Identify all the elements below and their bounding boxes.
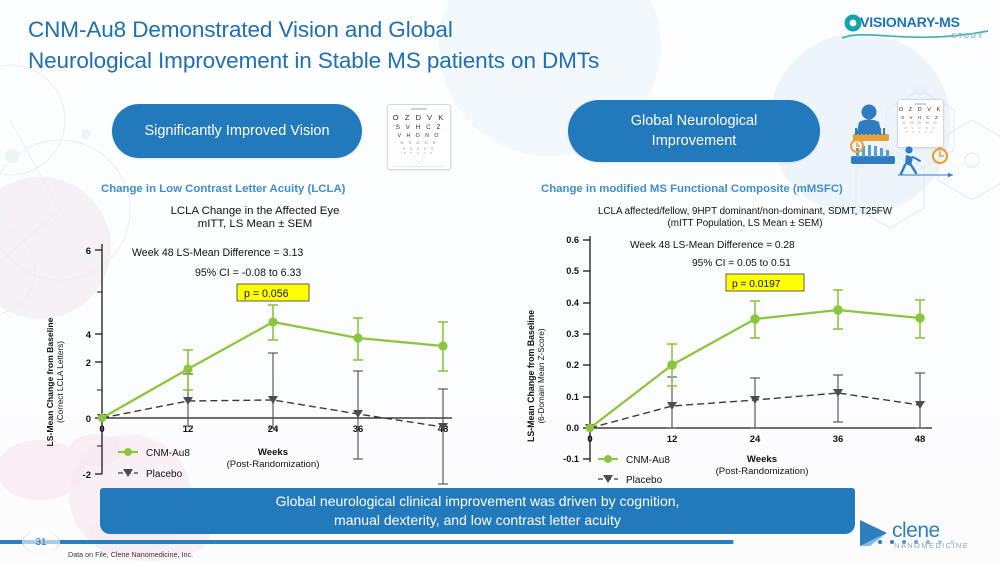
eye-chart-footer-lines bbox=[389, 155, 449, 169]
slide-canvas: CNM-Au8 Demonstrated Vision and Global N… bbox=[0, 0, 1000, 563]
chart-mmsfc-xtick-48: 48 bbox=[915, 434, 926, 445]
page-number: 31 bbox=[35, 537, 46, 548]
chart-lcla-xlabel-line2: (Post-Randomization) bbox=[227, 459, 320, 470]
timed-25-foot-walk-icon bbox=[896, 145, 956, 179]
chart-lcla-cnmau8-errorbars bbox=[183, 305, 448, 390]
eye-chart-small-header-bar bbox=[915, 103, 927, 105]
chart-lcla-title-line2: mITT, LS Mean ± SEM bbox=[198, 218, 313, 230]
chart-mmsfc-xtick-0: 0 bbox=[587, 434, 592, 445]
chart-mmsfc-ytick-0.4: 0.4 bbox=[566, 298, 580, 308]
eye-chart-row-1: O Z D V K bbox=[393, 113, 446, 122]
chart-mmsfc-pvalue: p = 0.0197 bbox=[732, 279, 781, 290]
chart-lcla-pvalue: p = 0.056 bbox=[244, 288, 289, 300]
legend-mmsfc-cnmau8-marker bbox=[604, 455, 612, 463]
chart-mmsfc-ytick-0.5: 0.5 bbox=[566, 266, 579, 276]
chart-lcla-svg: LCLA Change in the Affected Eye mITT, LS… bbox=[40, 196, 470, 486]
eye-chart-small-row-2: S V H C Z bbox=[901, 115, 940, 120]
chart-lcla-y-minor-ticks bbox=[97, 292, 102, 446]
clene-triangle-icon bbox=[856, 516, 890, 550]
chart-mmsfc-legend: CNM-Au8 Placebo bbox=[598, 455, 670, 486]
snellen-eye-chart-icon: O Z D V K S V H C Z V H O N O N V O O K … bbox=[387, 104, 451, 170]
eye-chart-row-3: V H O N O bbox=[398, 133, 441, 139]
slide-title: CNM-Au8 Demonstrated Vision and Global N… bbox=[28, 14, 668, 76]
chart-mmsfc-ytick-0.2: 0.2 bbox=[566, 360, 579, 370]
pill-right-label-line2: Improvement bbox=[631, 131, 758, 151]
chart-lcla-y-ticklabels: 6 4 2 0 -2 bbox=[83, 246, 92, 481]
chart-lcla-ylabel-line1: LS-Mean Change from Baseline bbox=[45, 317, 55, 446]
slide-title-line2: Neurological Improvement in Stable MS pa… bbox=[28, 45, 668, 76]
pill-left-label: Significantly Improved Vision bbox=[144, 121, 329, 141]
eye-chart-row-2: S V H C Z bbox=[396, 124, 443, 131]
visionary-ms-sub: STUDY bbox=[952, 31, 984, 40]
chart-lcla-ytick-0: 0 bbox=[86, 414, 91, 425]
nine-hole-peg-test-icon bbox=[847, 100, 901, 166]
chart-mmsfc-x-ticklabels: 0 12 24 36 48 bbox=[587, 434, 925, 445]
chart-lcla-xlabel-line1: Weeks bbox=[258, 447, 288, 458]
slide-title-line1: CNM-Au8 Demonstrated Vision and Global bbox=[28, 17, 453, 42]
eye-chart-small-row-5: H S K V O bbox=[906, 131, 935, 134]
footer-rule bbox=[0, 540, 872, 544]
section-heading-lcla: Change in Low Contrast Letter Acuity (LC… bbox=[101, 183, 345, 195]
snellen-eye-chart-icon-small: O Z D V K S V H C Z V H O N O N V O O K … bbox=[897, 99, 944, 148]
visionary-ms-wordmark: VISIONARY-MS bbox=[860, 15, 960, 31]
chart-mmsfc-xlabel-line1: Weeks bbox=[747, 454, 777, 465]
chart-lcla-legend: CNM-Au8 Placebo bbox=[118, 448, 190, 480]
chart-lcla-title-line1: LCLA Change in the Affected Eye bbox=[171, 205, 340, 217]
chart-mmsfc-cnmau8-errorbars bbox=[667, 290, 925, 386]
chart-mmsfc-title-line1: LCLA affected/fellow, 9HPT dominant/non-… bbox=[598, 206, 893, 217]
clene-nanomedicine-logo: clene NANOMEDICINE bbox=[856, 516, 986, 556]
chart-mmsfc-xtick-36: 36 bbox=[833, 434, 844, 445]
chart-mmsfc-ytick-0.6: 0.6 bbox=[566, 235, 579, 245]
eye-chart-row-4: N V O O K bbox=[401, 140, 438, 145]
chart-lcla-confidence-interval: 95% CI = -0.08 to 6.33 bbox=[195, 267, 301, 279]
eye-chart-small-row-1: O Z D V K bbox=[899, 107, 943, 113]
bottom-banner-line1: Global neurological clinical improvement… bbox=[276, 492, 680, 511]
chart-lcla-ylabel-line2: (Correct LCLA Letters) bbox=[56, 341, 65, 423]
chart-mmsfc-confidence-interval: 95% CI = 0.05 to 0.51 bbox=[692, 258, 791, 269]
chart-lcla-ytick-4: 4 bbox=[86, 330, 92, 341]
footer-source-note: Data on File, Clene Nanomedicine, Inc. bbox=[68, 550, 193, 559]
chart-mmsfc-ylabel-line1: LS-Mean Change from Baseline bbox=[526, 310, 536, 442]
chart-lcla-ytick-2: 2 bbox=[86, 358, 91, 369]
chart-mmsfc-xtick-24: 24 bbox=[750, 434, 761, 445]
pill-global-neurological-improvement[interactable]: Global Neurological Improvement bbox=[568, 100, 820, 162]
chart-lcla-ytick-m2: -2 bbox=[83, 470, 91, 481]
eye-chart-row-5: H S K V O bbox=[403, 147, 436, 151]
visionary-ms-logo: VISIONARY-MS STUDY bbox=[842, 8, 988, 48]
chart-lcla-ytick-6: 6 bbox=[86, 246, 91, 257]
bottom-conclusion-banner: Global neurological clinical improvement… bbox=[100, 488, 855, 534]
chart-mmsfc-y-ticklabels: 0.6 0.5 0.4 0.3 0.2 0.1 0.0 -0.1 bbox=[563, 235, 580, 464]
legend-cnmau8-label: CNM-Au8 bbox=[146, 448, 190, 459]
eye-chart-header-bar bbox=[411, 108, 427, 110]
legend-mmsfc-placebo-marker bbox=[603, 475, 613, 483]
chart-mmsfc-lsmean-difference: Week 48 LS-Mean Difference = 0.28 bbox=[630, 240, 795, 251]
section-heading-mmsfc: Change in modified MS Functional Composi… bbox=[541, 183, 843, 195]
bottom-banner-line2: manual dexterity, and low contrast lette… bbox=[334, 511, 621, 530]
eye-chart-small-row-4: N V O O K bbox=[904, 126, 936, 130]
chart-lcla: LCLA Change in the Affected Eye mITT, LS… bbox=[40, 196, 470, 486]
chart-mmsfc-svg: LCLA affected/fellow, 9HPT dominant/non-… bbox=[520, 196, 960, 486]
chart-mmsfc-title-line2: (mITT Population, LS Mean ± SEM) bbox=[668, 218, 823, 229]
chart-lcla-lsmean-difference: Week 48 LS-Mean Difference = 3.13 bbox=[132, 247, 303, 259]
clene-sub-wordmark: NANOMEDICINE bbox=[894, 541, 969, 550]
pill-right-label-line1: Global Neurological bbox=[631, 111, 758, 131]
chart-mmsfc-xlabel-line2: (Post-Randomization) bbox=[716, 466, 809, 477]
eye-chart-small-row-3: V H O N O bbox=[902, 121, 938, 125]
chart-mmsfc-ytick-m0.1: -0.1 bbox=[563, 454, 579, 464]
chart-lcla-y-major-ticks bbox=[95, 250, 102, 474]
pill-significantly-improved-vision[interactable]: Significantly Improved Vision bbox=[112, 104, 362, 158]
legend-placebo-label: Placebo bbox=[146, 469, 183, 480]
legend-mmsfc-placebo-label: Placebo bbox=[626, 475, 663, 486]
clene-wordmark: clene bbox=[892, 519, 940, 543]
chart-lcla-xtick-0: 0 bbox=[99, 424, 104, 435]
chart-mmsfc-ylabel-line2: (6-Domain Mean Z-Score) bbox=[537, 328, 546, 423]
chart-mmsfc-ytick-0.1: 0.1 bbox=[566, 392, 579, 402]
legend-mmsfc-cnmau8-label: CNM-Au8 bbox=[626, 455, 670, 466]
legend-cnmau8-marker bbox=[124, 448, 132, 456]
chart-mmsfc-ytick-0.3: 0.3 bbox=[566, 329, 579, 339]
chart-mmsfc-ytick-0.0: 0.0 bbox=[566, 423, 579, 433]
chart-mmsfc-xtick-12: 12 bbox=[667, 434, 678, 445]
chart-lcla-x-ticklabels: 0 12 24 36 48 bbox=[99, 424, 448, 435]
legend-placebo-marker bbox=[123, 469, 133, 477]
chart-mmsfc: LCLA affected/fellow, 9HPT dominant/non-… bbox=[520, 196, 960, 486]
page-number-badge: 31 bbox=[22, 531, 60, 553]
